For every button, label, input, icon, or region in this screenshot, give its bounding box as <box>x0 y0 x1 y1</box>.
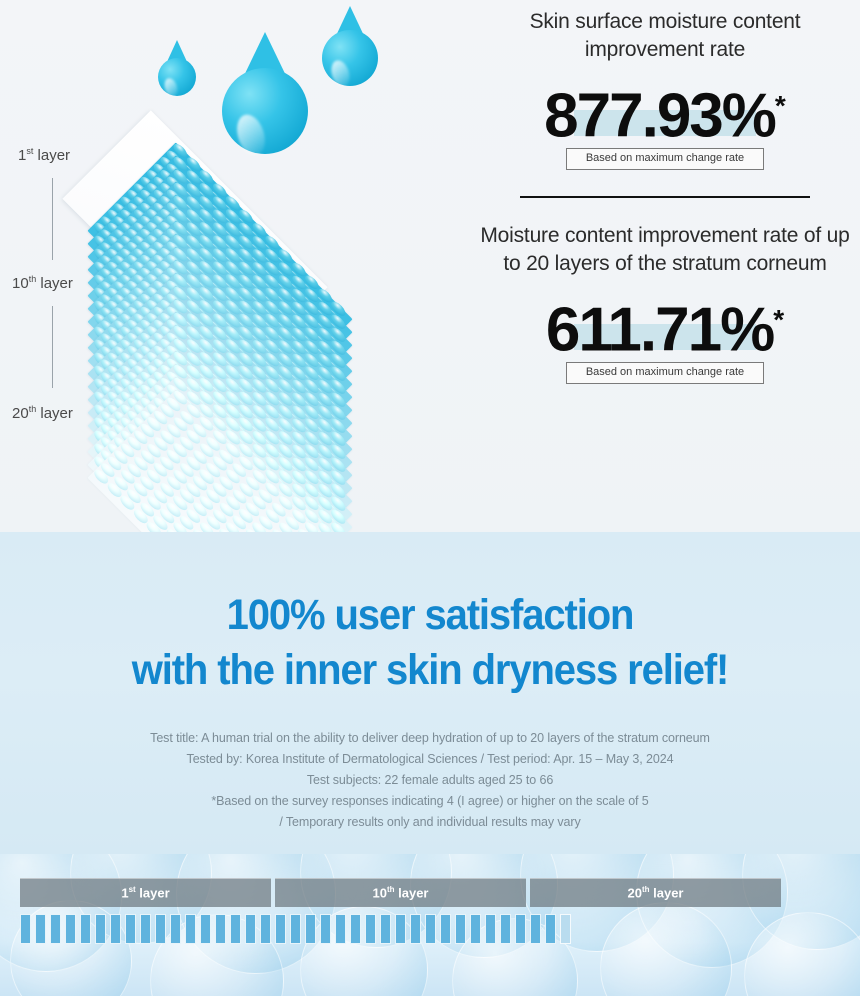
headline-line-2: with the inner skin dryness relief! <box>30 643 830 698</box>
stat-title-1: Skin surface moisture content improvemen… <box>470 8 860 64</box>
bar-chart-segment-bars <box>530 914 781 944</box>
statistics-panel: Skin surface moisture content improvemen… <box>470 0 860 532</box>
bar-chart-bar <box>755 914 766 944</box>
bar-chart-bar <box>605 914 616 944</box>
stat-value-1: 877.93%* <box>544 70 786 153</box>
bar-chart-segment-headers: 1st layer10th layer20th layer <box>20 878 840 907</box>
bar-chart-segment-header: 20th layer <box>530 878 781 907</box>
bar-chart-bar <box>590 914 601 944</box>
fine-print-line: / Temporary results only and individual … <box>0 812 860 833</box>
satisfaction-headline: 100% user satisfaction with the inner sk… <box>30 532 830 698</box>
infographic-page: 1st layer 10th layer 20th layer Skin sur… <box>0 0 860 996</box>
bar-chart-bar <box>575 914 586 944</box>
bar-chart-bar <box>380 914 391 944</box>
fine-print-block: Test title: A human trial on the ability… <box>0 728 860 833</box>
bar-chart-bar <box>365 914 376 944</box>
bar-chart-bar <box>425 914 436 944</box>
layer-label-1st: 1st layer <box>18 146 70 164</box>
layer-stack-illustration: 1st layer 10th layer 20th layer <box>0 0 470 532</box>
bar-chart-bar <box>245 914 256 944</box>
bar-chart-bar <box>440 914 451 944</box>
bar-chart-bar <box>545 914 556 944</box>
water-droplet-medium-icon <box>322 6 378 86</box>
bar-chart-bar <box>500 914 511 944</box>
bar-chart-bar <box>35 914 46 944</box>
layer-bar-chart: 1st layer10th layer20th layer <box>20 878 840 944</box>
bar-chart-bar <box>650 914 661 944</box>
bar-chart-bar <box>65 914 76 944</box>
bar-chart-bar <box>260 914 271 944</box>
bar-chart-bar <box>290 914 301 944</box>
water-droplet-small-icon <box>158 40 196 96</box>
fine-print-line: Tested by: Korea Institute of Dermatolog… <box>0 749 860 770</box>
bar-chart-bar <box>140 914 151 944</box>
bar-chart-bar <box>530 914 541 944</box>
stat-block-1: Skin surface moisture content improvemen… <box>470 0 860 170</box>
stat-value-wrap-2: 611.71%* <box>470 284 860 358</box>
bar-chart-bar <box>110 914 121 944</box>
bar-chart-bar <box>230 914 241 944</box>
bar-chart-bar <box>335 914 346 944</box>
bubble-chart-band: 1st layer10th layer20th layer <box>0 854 860 996</box>
bar-chart-bar <box>395 914 406 944</box>
bar-chart-bar <box>620 914 631 944</box>
bar-chart-segment-bars <box>20 914 271 944</box>
bar-chart-bar <box>770 914 781 944</box>
bar-chart-bar <box>185 914 196 944</box>
headline-line-1: 100% user satisfaction <box>30 588 830 643</box>
stat-title-2: Moisture content improvement rate of up … <box>470 222 860 278</box>
bar-chart-bar <box>125 914 136 944</box>
bar-chart-bar <box>485 914 496 944</box>
bar-chart-bar <box>20 914 31 944</box>
bar-chart-bar <box>200 914 211 944</box>
bar-chart-bar <box>275 914 286 944</box>
stat-block-2: Moisture content improvement rate of up … <box>470 222 860 384</box>
layer-label-10th: 10th layer <box>12 274 73 292</box>
bar-chart-bar <box>350 914 361 944</box>
bar-chart-bar <box>665 914 676 944</box>
fine-print-line: Test title: A human trial on the ability… <box>0 728 860 749</box>
stat-divider <box>520 196 810 198</box>
bar-chart-bar <box>50 914 61 944</box>
bar-chart-bar <box>95 914 106 944</box>
bar-chart-bar <box>680 914 691 944</box>
layer-range-tick-upper <box>52 178 53 260</box>
bar-chart-bar <box>410 914 421 944</box>
bar-chart-bar <box>80 914 91 944</box>
stratum-layer-stack <box>40 150 460 470</box>
bar-chart-bar <box>695 914 706 944</box>
bar-chart-segment-bars <box>275 914 526 944</box>
bar-chart-bar <box>710 914 721 944</box>
bar-chart-bar <box>635 914 646 944</box>
bar-chart-bar <box>155 914 166 944</box>
bar-chart-bar <box>455 914 466 944</box>
bar-chart-bar <box>740 914 751 944</box>
bar-chart-bar <box>305 914 316 944</box>
bar-chart-bar <box>170 914 181 944</box>
water-droplet-large-icon <box>222 32 308 154</box>
bar-chart-bar <box>470 914 481 944</box>
stat-value-2: 611.71%* <box>546 284 784 367</box>
satisfaction-band: 100% user satisfaction with the inner sk… <box>0 532 860 854</box>
bar-chart-bar <box>215 914 226 944</box>
bar-chart-segment-header: 1st layer <box>20 878 271 907</box>
bar-chart-bars <box>20 914 840 944</box>
bar-chart-bar <box>515 914 526 944</box>
layer-range-tick-lower <box>52 306 53 388</box>
bar-chart-bar <box>725 914 736 944</box>
stat-value-wrap-1: 877.93%* <box>470 70 860 144</box>
fine-print-line: *Based on the survey responses indicatin… <box>0 791 860 812</box>
bar-chart-bar <box>320 914 331 944</box>
bar-chart-segment-header: 10th layer <box>275 878 526 907</box>
layer-label-20th: 20th layer <box>12 404 73 422</box>
fine-print-line: Test subjects: 22 female adults aged 25 … <box>0 770 860 791</box>
hero-band: 1st layer 10th layer 20th layer Skin sur… <box>0 0 860 532</box>
bar-chart-bar <box>560 914 571 944</box>
